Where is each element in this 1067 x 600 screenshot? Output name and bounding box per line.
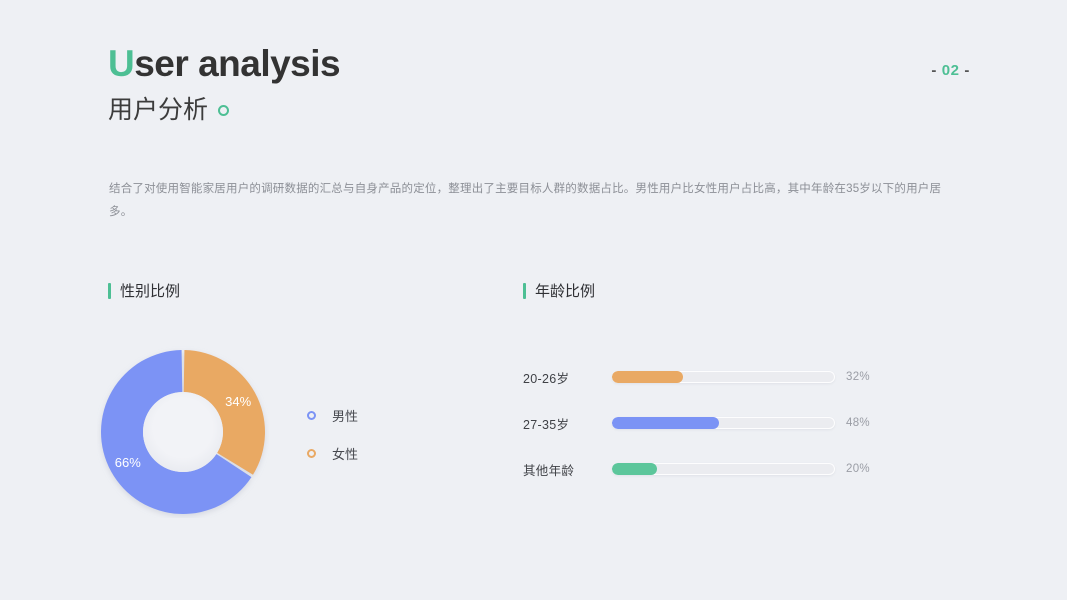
bar-fill-0 [612,371,683,383]
legend-item-male[interactable]: 男性 [307,406,358,425]
page-title-rest: ser analysis [134,43,340,84]
legend-marker-ring-icon [307,449,316,458]
page-subtitle-text: 用户分析 [108,97,208,125]
bar-value-2: 20% [846,463,870,475]
bar-value-0: 32% [846,371,870,383]
legend-label-male: 男性 [332,406,358,425]
section-heading-age: 年龄比例 [523,280,595,301]
bar-track-2 [612,463,835,475]
donut-value-female: 34% [225,394,251,409]
bar-value-1: 48% [846,417,870,429]
donut-value-male: 66% [115,455,141,470]
bar-row: 27-35岁 48% [523,408,923,438]
bar-fill-1 [612,417,719,429]
gender-donut-chart: 66% 34% [97,346,269,518]
bar-track-0 [612,371,835,383]
legend-marker-ring-icon [307,411,316,420]
accent-bar-icon [108,283,111,299]
donut-hole [143,392,223,472]
bar-track-1 [612,417,835,429]
page-number-prefix: - [931,62,937,79]
age-bar-chart: 20-26岁 32% 27-35岁 48% 其他年龄 20% [523,362,923,500]
bar-label-2: 其他年龄 [523,460,612,479]
section-heading-gender: 性别比例 [108,280,180,301]
page-number-suffix: - [964,62,970,79]
bar-fill-2 [612,463,657,475]
bar-row: 其他年龄 20% [523,454,923,484]
page-subtitle: 用户分析 [108,97,988,125]
legend-item-female[interactable]: 女性 [307,444,358,463]
legend-label-female: 女性 [332,444,358,463]
donut-svg: 66% 34% [97,346,269,518]
section-heading-age-label: 年龄比例 [535,280,595,301]
bar-label-0: 20-26岁 [523,368,612,387]
description-paragraph: 结合了对使用智能家居用户的调研数据的汇总与自身产品的定位，整理出了主要目标人群的… [109,178,954,224]
page-title: User analysis [108,44,988,85]
section-heading-gender-label: 性别比例 [120,280,180,301]
page-title-accent-letter: U [108,43,134,84]
circle-ring-icon [218,105,229,116]
bar-label-1: 27-35岁 [523,414,612,433]
slide-header: User analysis 用户分析 [108,44,988,124]
page-number: - 02 - [931,62,970,79]
accent-bar-icon [523,283,526,299]
donut-legend: 男性 女性 [307,406,358,463]
page-number-value: 02 [942,62,960,79]
bar-row: 20-26岁 32% [523,362,923,392]
